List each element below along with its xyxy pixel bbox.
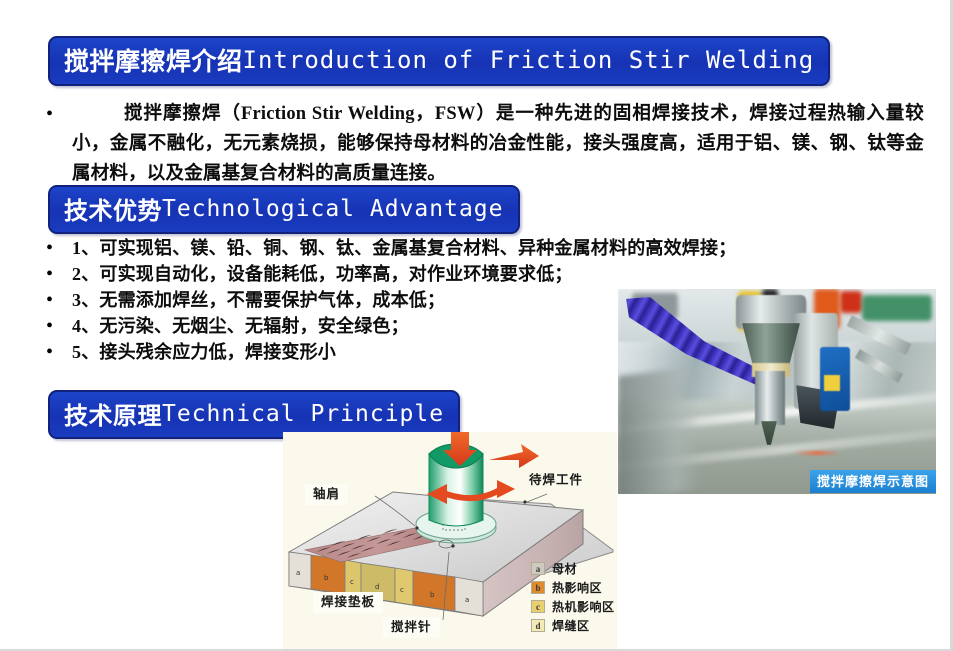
banner-principle-en: Technical Principle bbox=[162, 401, 444, 427]
legend-key-swatch: a bbox=[531, 562, 545, 575]
legend-label: 母材 bbox=[552, 560, 577, 577]
advantage-list: • 1、可实现铝、镁、铅、铜、钢、钛、金属基复合材料、异种金属材料的高效焊接； … bbox=[44, 235, 644, 365]
rotation-arrow-head-2 bbox=[497, 480, 515, 498]
banner-intro-cn: 搅拌摩擦焊介绍 bbox=[64, 42, 243, 78]
diagram-label-backing-plate: 焊接垫板 bbox=[313, 592, 383, 613]
intro-paragraph-row: • 搅拌摩擦焊（Friction Stir Welding，FSW）是一种先进的… bbox=[44, 99, 924, 189]
list-item: • 5、接头残余应力低，焊接变形小 bbox=[44, 339, 644, 365]
list-item-label: 2、可实现自动化，设备能耗低，功率高，对作业环境要求低； bbox=[72, 261, 573, 287]
section-banner-advantage: 技术优势Technological Advantage bbox=[48, 185, 520, 234]
diagram-legend: a 母材 b 热影响区 c 热机影响区 d 焊缝区 bbox=[531, 560, 615, 636]
bullet-icon: • bbox=[44, 315, 72, 338]
list-item: • 3、无需添加焊丝，不需要保护气体，成本低； bbox=[44, 287, 644, 313]
leader-dot bbox=[451, 544, 454, 547]
bullet-icon: • bbox=[44, 289, 72, 312]
bullet-icon: • bbox=[44, 237, 72, 260]
leader-dot bbox=[523, 500, 526, 503]
travel-direction-arrow bbox=[489, 444, 539, 468]
list-item: • 4、无污染、无烟尘、无辐射，安全绿色； bbox=[44, 313, 644, 339]
list-item-label: 3、无需添加焊丝，不需要保护气体，成本低； bbox=[72, 287, 445, 313]
list-item: • 2、可实现自动化，设备能耗低，功率高，对作业环境要求低； bbox=[44, 261, 644, 287]
svg-text:d: d bbox=[375, 583, 379, 591]
svg-text:c: c bbox=[400, 586, 404, 594]
banner-advantage-cn: 技术优势 bbox=[64, 191, 162, 226]
section-banner-intro: 搅拌摩擦焊介绍Introduction of Friction Stir Wel… bbox=[48, 36, 830, 86]
legend-key-swatch: d bbox=[531, 619, 545, 632]
svg-text:a: a bbox=[296, 569, 300, 577]
legend-key-swatch: b bbox=[531, 581, 545, 594]
photo-yellow-chip bbox=[824, 375, 840, 391]
list-item-label: 4、无污染、无烟尘、无辐射，安全绿色； bbox=[72, 313, 409, 339]
legend-item: a 母材 bbox=[531, 560, 615, 577]
photo-shadow-band bbox=[618, 366, 701, 494]
fsw-machine-photo: 搅拌摩擦焊示意图 bbox=[618, 289, 936, 494]
photo-spindle-shaft bbox=[755, 371, 785, 425]
bullet-icon: • bbox=[44, 99, 72, 129]
photo-blur-shape bbox=[840, 291, 862, 313]
slide-canvas: 搅拌摩擦焊介绍Introduction of Friction Stir Wel… bbox=[0, 0, 953, 651]
list-item-label: 5、接头残余应力低，焊接变形小 bbox=[72, 339, 336, 365]
list-item-label: 1、可实现铝、镁、铅、铜、钢、钛、金属基复合材料、异种金属材料的高效焊接； bbox=[72, 235, 736, 261]
legend-key-swatch: c bbox=[531, 600, 545, 613]
bullet-icon: • bbox=[44, 341, 72, 364]
legend-label: 焊缝区 bbox=[552, 617, 590, 634]
banner-advantage-en: Technological Advantage bbox=[162, 196, 504, 222]
fsw-principle-diagram: a b c d c b a bbox=[283, 432, 617, 651]
diagram-label-workpiece: 待焊工件 bbox=[521, 470, 591, 491]
diagram-label-shoulder: 轴肩 bbox=[305, 484, 348, 505]
svg-text:b: b bbox=[324, 574, 329, 582]
legend-label: 热影响区 bbox=[552, 579, 602, 596]
legend-item: d 焊缝区 bbox=[531, 617, 615, 634]
diagram-label-pin: 搅拌针 bbox=[383, 617, 440, 638]
leader-dot bbox=[415, 526, 418, 529]
bullet-icon: • bbox=[44, 263, 72, 286]
legend-item: b 热影响区 bbox=[531, 579, 615, 596]
list-item: • 1、可实现铝、镁、铅、铜、钢、钛、金属基复合材料、异种金属材料的高效焊接； bbox=[44, 235, 644, 261]
photo-caption: 搅拌摩擦焊示意图 bbox=[810, 470, 936, 493]
svg-text:b: b bbox=[430, 591, 435, 599]
banner-intro-en: Introduction of Friction Stir Welding bbox=[243, 46, 815, 74]
svg-text:a: a bbox=[465, 596, 469, 604]
photo-spark bbox=[794, 451, 840, 455]
legend-item: c 热机影响区 bbox=[531, 598, 615, 615]
intro-paragraph-text: 搅拌摩擦焊（Friction Stir Welding，FSW）是一种先进的固相… bbox=[72, 99, 924, 189]
svg-text:c: c bbox=[350, 578, 354, 586]
photo-blur-shape bbox=[862, 295, 932, 321]
legend-label: 热机影响区 bbox=[552, 598, 615, 615]
banner-principle-cn: 技术原理 bbox=[64, 396, 162, 431]
